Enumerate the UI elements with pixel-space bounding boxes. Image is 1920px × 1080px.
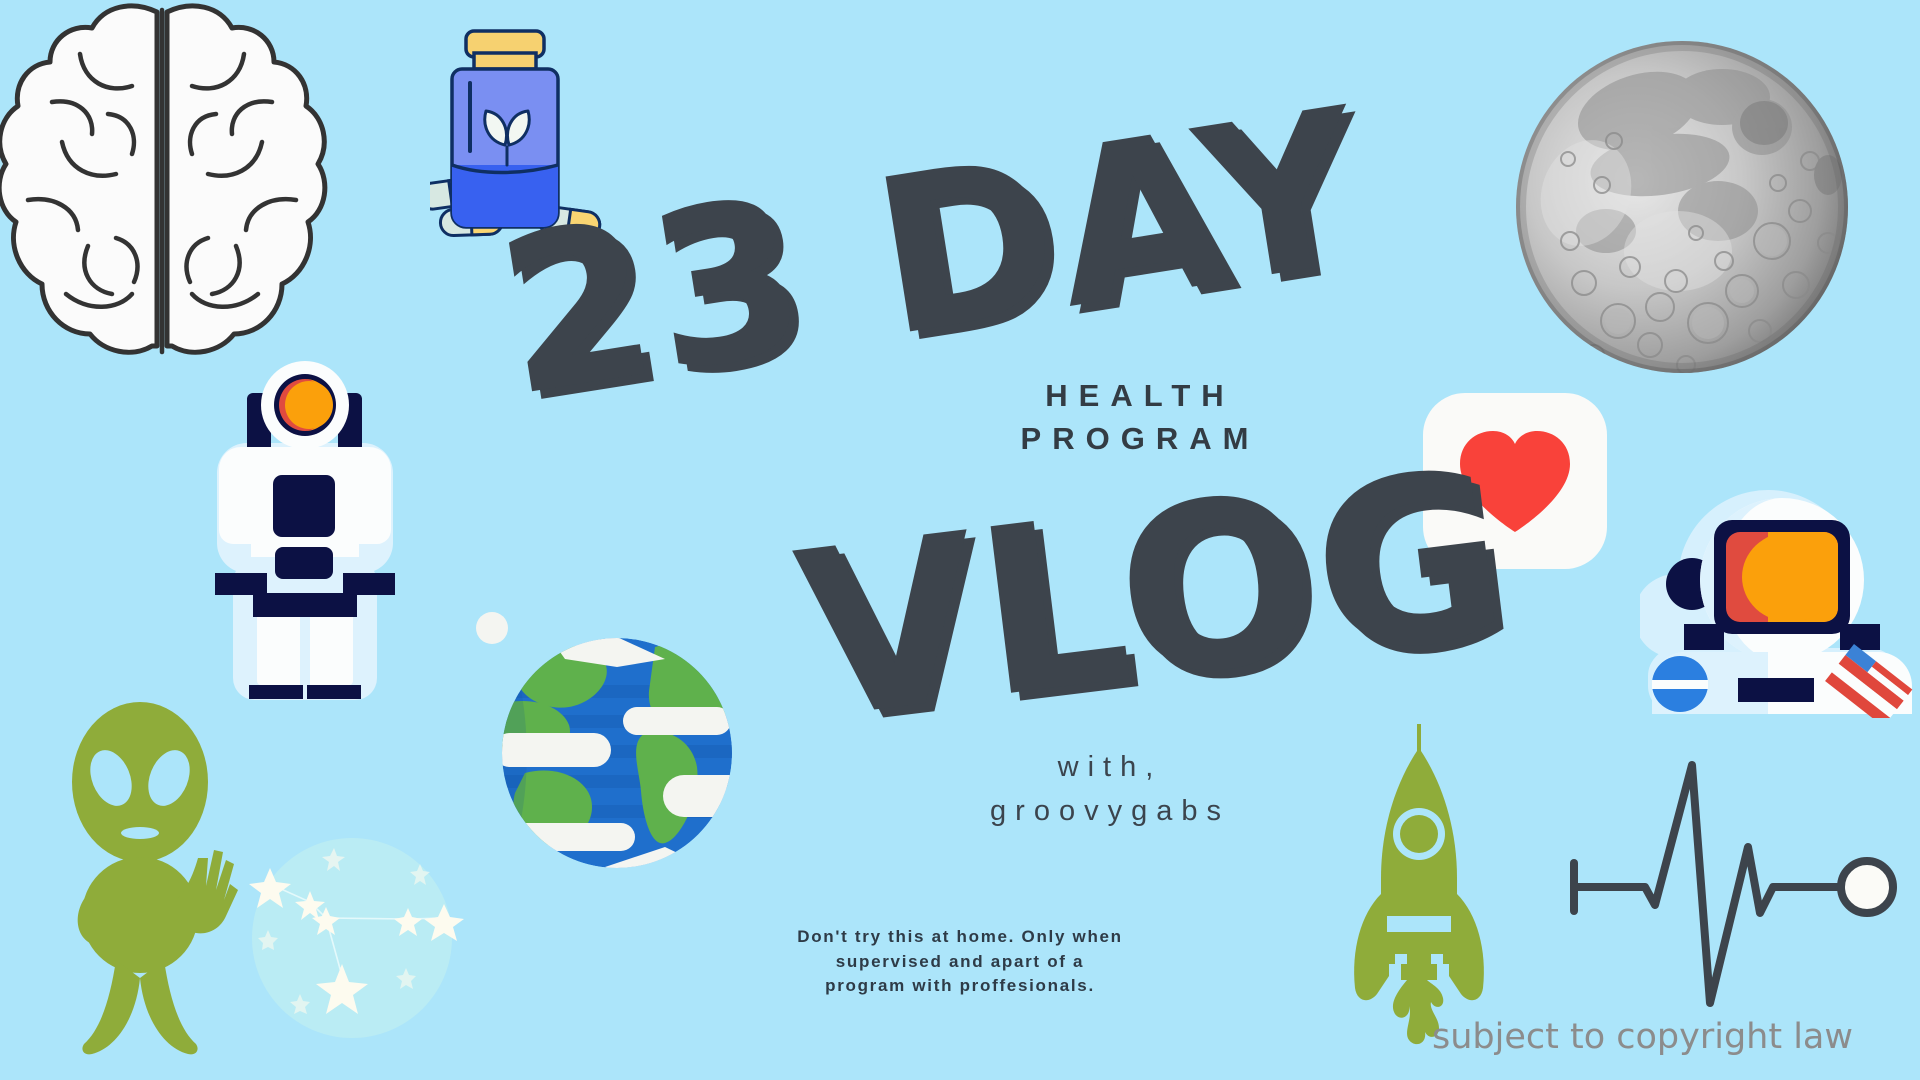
ecg-illustration xyxy=(1555,735,1905,1015)
disclaimer-line-1: Don't try this at home. Only when xyxy=(700,925,1220,950)
brain-illustration xyxy=(0,0,332,364)
subtitle-line-2: PROGRAM xyxy=(930,418,1350,461)
pill-bottle-illustration xyxy=(430,25,615,265)
disclaimer-line-3: program with proffesionals. xyxy=(700,974,1220,999)
copyright-watermark: subject to copyright law xyxy=(1432,1017,1853,1057)
disclaimer-text: Don't try this at home. Only when superv… xyxy=(700,925,1220,999)
subtitle-line-1: HEALTH xyxy=(930,375,1350,418)
byline: with, groovygabs xyxy=(900,745,1320,833)
alien-illustration xyxy=(58,700,243,1060)
byline-line-1: with, xyxy=(1058,751,1163,783)
earth-illustration xyxy=(465,585,755,875)
rocket-illustration xyxy=(1345,718,1495,1048)
astronaut-bust-illustration xyxy=(1640,488,1920,718)
heart-card-illustration xyxy=(1420,390,1610,572)
constellation-illustration xyxy=(230,820,480,1070)
moon-photo xyxy=(1510,35,1855,380)
astronaut-full-illustration xyxy=(205,355,405,715)
headline-vlog: VLOG VLOG xyxy=(786,433,1434,777)
byline-line-2: groovygabs xyxy=(900,789,1320,833)
disclaimer-line-2: supervised and apart of a xyxy=(700,950,1220,975)
thumbnail-canvas: 23 DAY 23 DAY HEALTH PROGRAM VLOG VLOG w… xyxy=(0,0,1920,1080)
subtitle-health-program: HEALTH PROGRAM xyxy=(930,375,1350,461)
